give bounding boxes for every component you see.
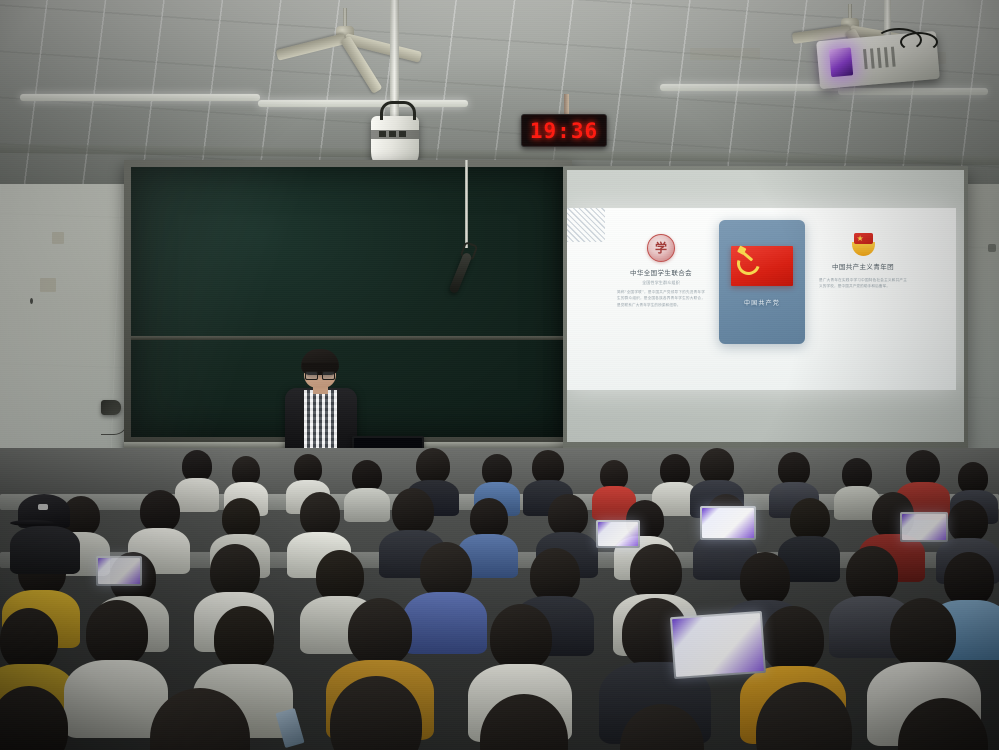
student-head [470,498,508,538]
student-head [740,552,790,606]
student-body [175,478,219,512]
student-head [846,546,898,602]
student-head [630,544,682,600]
laptop-screen [98,558,140,584]
fan-blade [276,33,347,61]
projector-cable [900,32,938,52]
ceiling-tube-light [258,100,468,107]
student-head [948,500,988,542]
speaker-chip [399,131,406,137]
student-head [222,498,260,538]
student-head [214,606,274,670]
student-head [392,488,434,534]
microphone-cable [465,160,468,248]
laptop-screen [702,508,754,538]
digital-wall-clock: 19:36 [521,114,607,147]
student-laptop[interactable] [96,556,142,586]
student-head [0,608,58,670]
projected-slide: 学 中华全国学生联合会 全国性学生群众组织 简称“全国学联”，是中国共产党领导下… [567,208,956,390]
ceiling-stain [690,48,760,60]
student-head [316,550,364,602]
blackboard-divider [131,336,565,340]
student-head [86,600,148,666]
student-laptop[interactable] [596,520,640,548]
student-body [344,488,390,522]
ceiling-tube-light [20,94,260,101]
wall-nail [30,298,33,304]
projector-vent [870,48,875,68]
sickle-icon [733,248,764,279]
projector-vent [877,48,882,68]
projection-screen-surface: 学 中华全国学生联合会 全国性学生群众组织 简称“全国学联”，是中国共产党领导下… [567,170,964,442]
clock-support [564,94,569,116]
speaker-chip [389,131,396,137]
cap-logo [38,504,48,510]
student-head [300,492,340,536]
projector-vent [863,49,868,69]
chinese-communist-party-card: 中国共产党 [719,220,805,344]
laptop-screen [902,514,946,540]
student-head [762,606,824,672]
all-china-students-federation-emblem: 学 [647,234,675,262]
student-head [348,598,412,666]
student-head [790,498,830,540]
student-head [416,448,450,484]
ceiling-tube-light [838,88,988,95]
left-panel-body: 简称“全国学联”，是中国共产党领导下的先进青年学生的群众组织，是全国各族各界青年… [617,289,705,308]
student-head [140,490,180,532]
emblem-sun [852,242,875,256]
student-head [420,542,472,598]
student-head [210,544,260,598]
ceiling [0,0,999,186]
student-head [532,450,564,484]
left-panel-subtitle: 全国性学生群众组织 [617,280,705,286]
student-body [403,592,487,654]
party-flag [731,246,793,286]
emblem-star: ★ [857,235,864,243]
lecturer-glasses-icon [305,371,335,378]
student-laptop[interactable] [670,611,766,679]
speaker-chip [379,131,386,137]
student-head [700,448,734,484]
projector-lens [829,47,853,77]
slide-right-panel: ★ 中国共产主义青年团 是广大青年在实践中学习中国特色社会主义和共产主义的学校，… [819,232,907,290]
emblem-glyph: 学 [655,242,667,254]
wall-mark [52,232,64,244]
speaker-handle [380,101,416,120]
seated-students: STUD [0,448,999,750]
laptop-screen [598,522,638,546]
student-head [944,552,994,606]
clock-time: 19:36 [530,119,598,143]
student-phone[interactable] [275,708,304,748]
student-head [490,604,552,670]
student-head [530,548,580,602]
right-panel-body: 是广大青年在实践中学习中国特色社会主义和共产主义的学校，是中国共产党的助手和后备… [819,277,907,290]
wall-fixture [988,244,996,252]
right-panel-title: 中国共产主义青年团 [819,261,907,271]
laptop-screen [672,613,764,677]
fan-rod [343,8,347,28]
student-laptop[interactable] [700,506,756,540]
wall-mark [40,278,56,292]
lecturer-plaid-shirt [304,390,337,456]
communist-youth-league-emblem: ★ [850,232,877,256]
card-caption: 中国共产党 [744,298,780,307]
student-head [890,598,956,668]
slide-corner-hatch [567,208,605,242]
projection-screen-frame: 学 中华全国学生联合会 全国性学生群众组织 简称“全国学联”，是中国共产党领导下… [563,166,968,451]
student-laptop[interactable] [900,512,948,542]
classroom-photo-scene: 19:36 学 [0,0,999,750]
left-panel-title: 中华全国学生联合会 [617,267,705,277]
student-head [778,452,810,486]
student-body [10,526,80,574]
ceiling-tube-light [660,84,840,91]
student-head [548,494,588,536]
student-head [906,450,940,486]
slide-left-panel: 学 中华全国学生联合会 全国性学生群众组织 简称“全国学联”，是中国共产党领导下… [617,234,705,308]
